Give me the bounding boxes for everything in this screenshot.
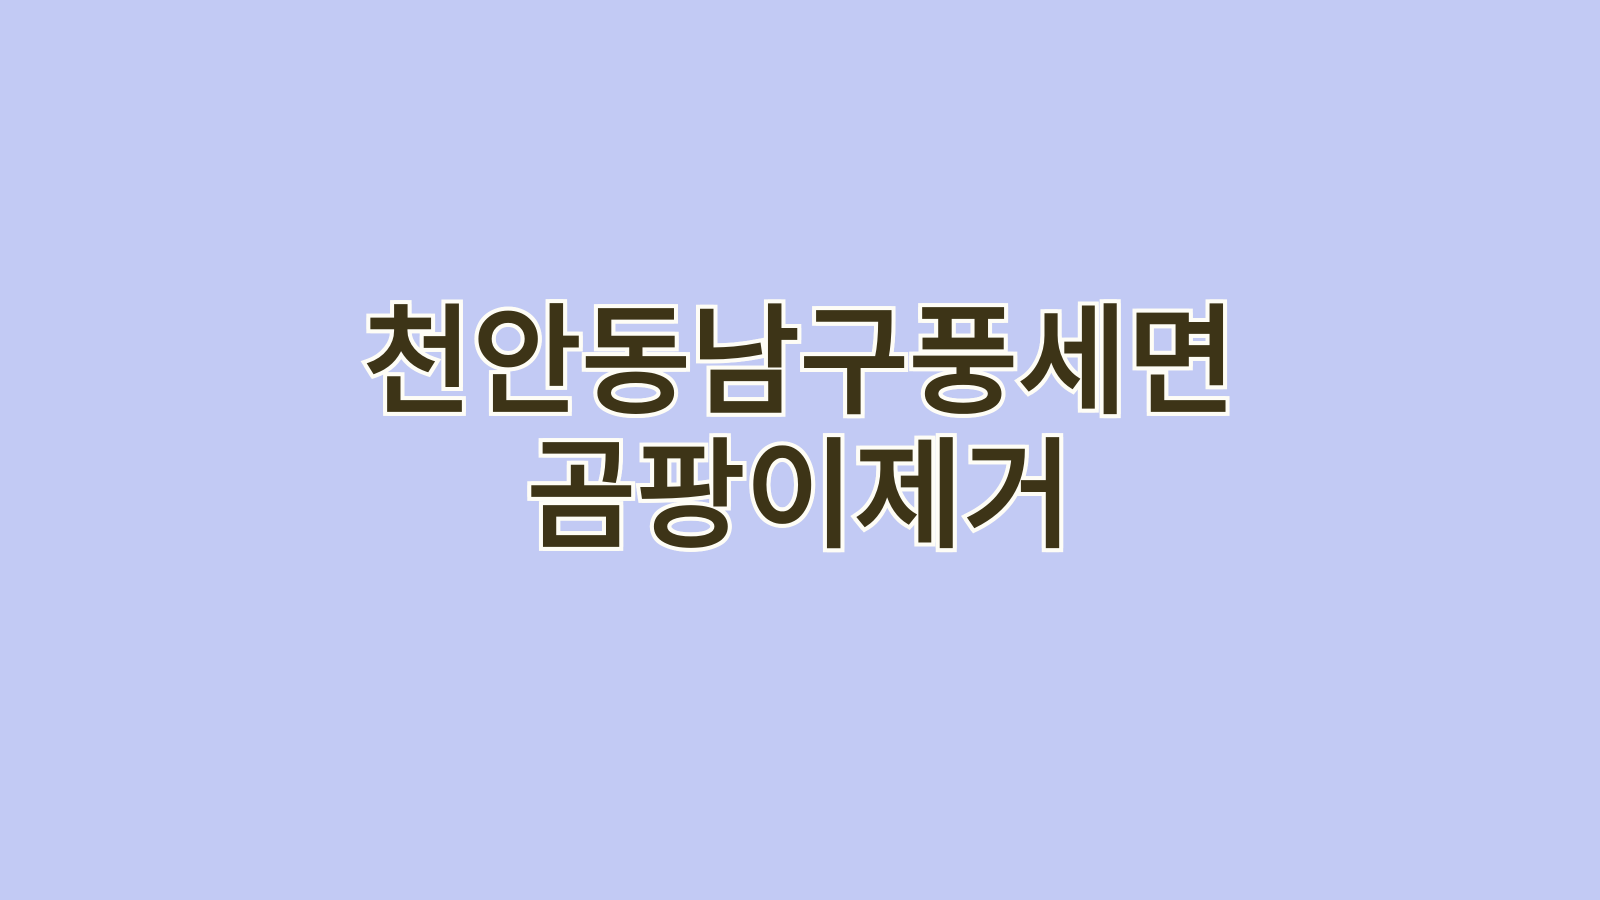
title-block: 천안동남구풍세면 곰팡이제거 [0,0,1600,900]
title-line-2: 곰팡이제거 [527,430,1073,562]
thumbnail-canvas: 천안동남구풍세면 곰팡이제거 [0,0,1600,900]
title-line-1: 천안동남구풍세면 [363,296,1236,428]
